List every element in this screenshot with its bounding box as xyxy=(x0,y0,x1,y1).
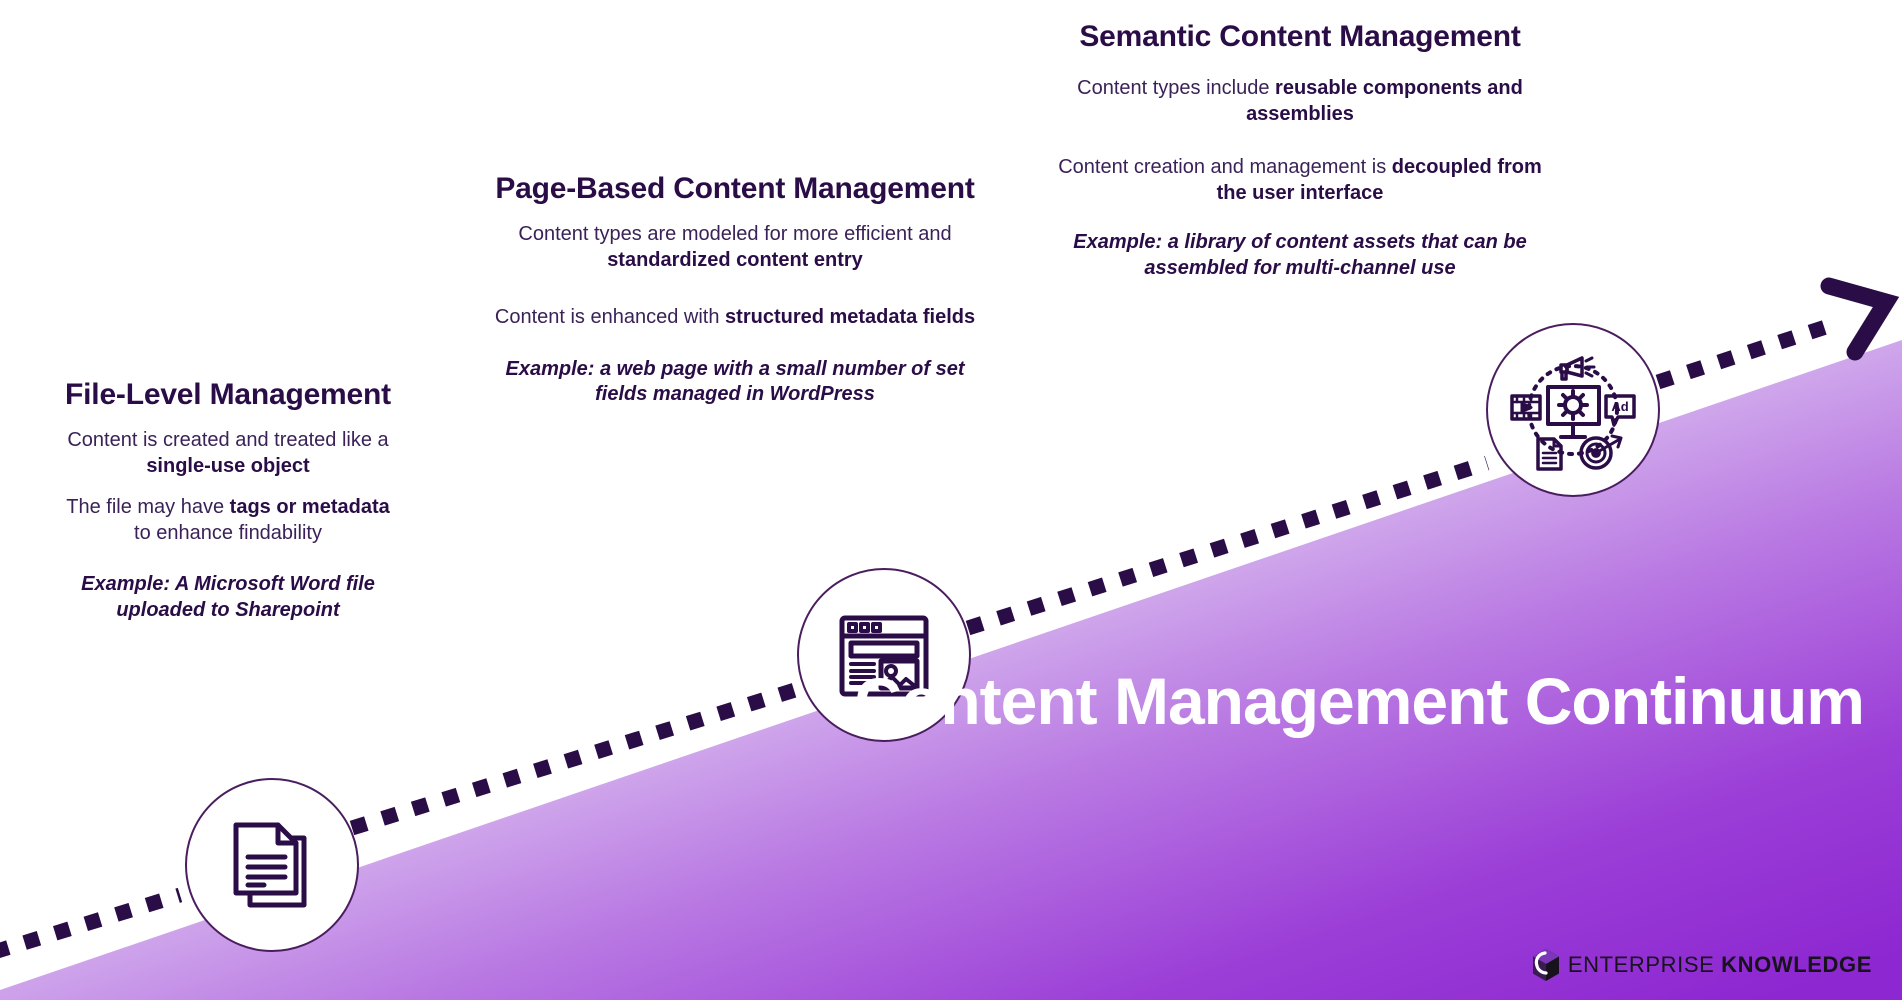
brand-word-knowledge: KNOWLEDGE xyxy=(1721,952,1872,977)
stage-example-page-based: Example: a web page with a small number … xyxy=(455,357,1015,408)
ad-speech-bubble-icon: Ad xyxy=(1606,396,1634,425)
svg-text:Ad: Ad xyxy=(1611,399,1628,414)
omnichannel-content-hub-icon: Ad xyxy=(1504,341,1642,479)
video-film-icon xyxy=(1512,396,1540,419)
page-title: Content Management Continuum xyxy=(854,668,1864,734)
stage-line: Content is enhanced with structured meta… xyxy=(455,305,1015,331)
stage-line: Content creation and management is decou… xyxy=(1020,155,1580,206)
brand-word-enterprise: ENTERPRISE xyxy=(1568,952,1715,977)
stage-text-page-based: Page-Based Content Management Content ty… xyxy=(455,172,1015,408)
stage-line: The file may have tags or metadatato enh… xyxy=(28,495,428,546)
document-icon xyxy=(1538,439,1561,469)
stage-example-semantic: Example: a library of content assets tha… xyxy=(1020,230,1580,281)
stage-line: Content types include reusable component… xyxy=(1020,76,1580,127)
target-arrow-icon xyxy=(1581,436,1621,468)
hexagon-swirl-logo-icon xyxy=(1531,948,1561,982)
stage-title-file-level: File-Level Management xyxy=(28,378,428,412)
stage-example-file-level: Example: A Microsoft Word fileuploaded t… xyxy=(28,572,428,623)
stage-line: Content types are modeled for more effic… xyxy=(455,222,1015,273)
stage-text-file-level: File-Level Management Content is created… xyxy=(28,378,428,624)
infographic-canvas: Ad File-Level Managem xyxy=(0,0,1902,1000)
stage-title-page-based: Page-Based Content Management xyxy=(455,172,1015,206)
monitor-gear-icon xyxy=(1548,387,1599,437)
stage-line: Content is created and treated like asin… xyxy=(28,428,428,479)
stage-text-semantic: Semantic Content Management Content type… xyxy=(1020,20,1580,282)
brand-lockup: ENTERPRISE KNOWLEDGE xyxy=(1531,948,1872,982)
stage-title-semantic: Semantic Content Management xyxy=(1020,20,1580,54)
megaphone-icon xyxy=(1561,358,1594,379)
stage-node-file-level[interactable] xyxy=(185,778,359,952)
brand-wordmark: ENTERPRISE KNOWLEDGE xyxy=(1568,952,1872,978)
stage-node-semantic[interactable]: Ad xyxy=(1486,323,1660,497)
stacked-documents-icon xyxy=(220,813,324,917)
